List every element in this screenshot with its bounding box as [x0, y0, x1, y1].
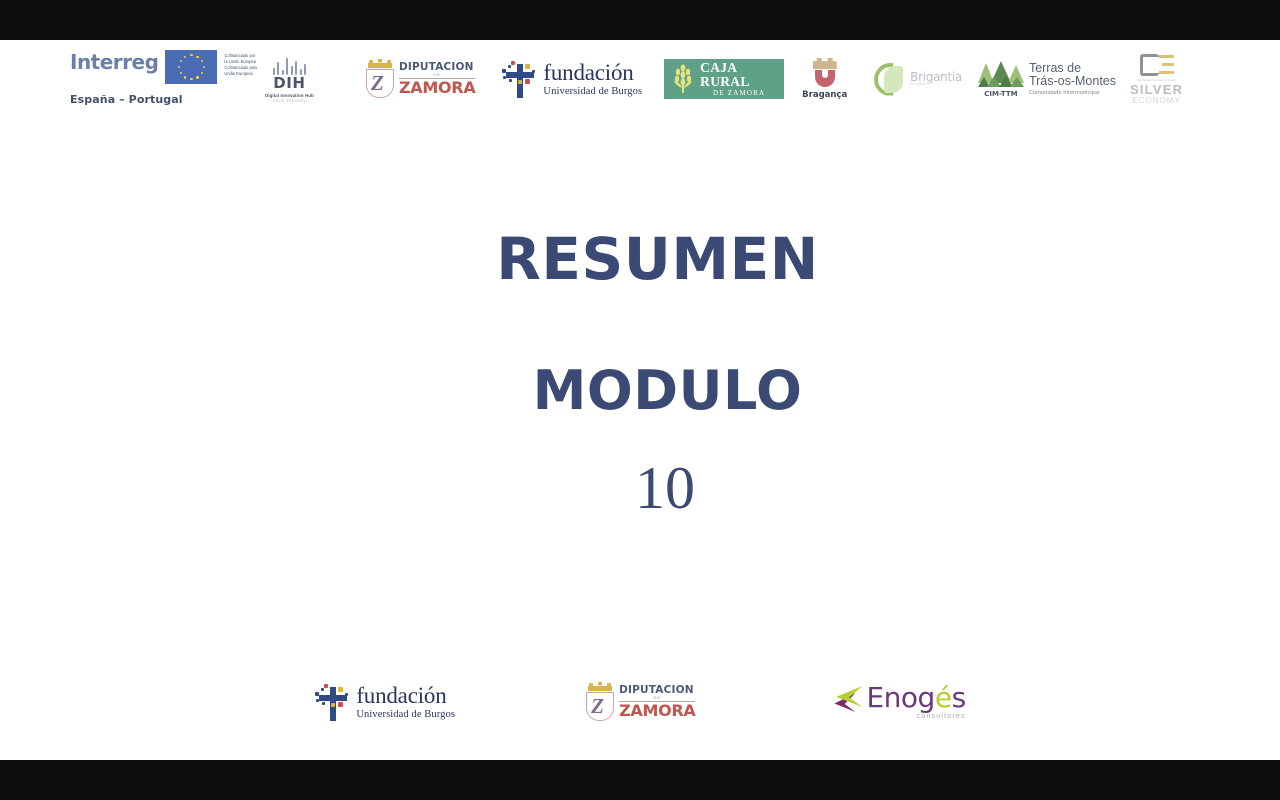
slide-title-block: RESUMEN MODULO 10	[0, 230, 1280, 518]
logo-braganca: Bragança	[802, 58, 864, 100]
caja-rural-line2: DE ZAMORA	[700, 90, 778, 97]
zamora-line2: ZAMORA	[399, 80, 475, 96]
logo-diputacion-zamora-bottom: Z DIPUTACION DE ZAMORA	[585, 682, 695, 722]
logo-enoges: Enogés consultores	[825, 682, 965, 722]
interreg-subtitle: España – Portugal	[70, 93, 286, 106]
ttm-line1: Terras de	[1029, 62, 1116, 76]
dih-subtitle-2: Silver Economy	[265, 98, 314, 103]
dih-bars-icon	[265, 55, 314, 75]
zamora-line1: DIPUTACION	[619, 685, 695, 696]
cim-ttm-acronym: CIM-TTM	[978, 90, 1024, 98]
ubu-cross-icon	[501, 60, 537, 98]
logo-fundacion-ubu-top: fundación Universidad de Burgos	[501, 60, 642, 98]
ttm-line2: Trás-os-Montes	[1029, 75, 1116, 89]
brigantia-sublabel: Ecopark	[910, 83, 962, 87]
zamora-connector: DE	[619, 696, 695, 700]
interreg-wordmark: Interreg	[70, 52, 158, 72]
logo-dih: DIH Digital Innovation Hub Silver Econom…	[265, 55, 347, 102]
ubu-cross-icon	[314, 683, 350, 721]
enoges-text-after: s	[952, 681, 966, 714]
ubu-line1: fundación	[356, 684, 455, 708]
eu-flag-icon	[165, 50, 217, 84]
ubu-line2: Universidad de Burgos	[543, 86, 642, 97]
logo-caja-rural: CAJA RURAL DE ZAMORA	[664, 59, 784, 99]
module-number: 10	[0, 458, 1280, 518]
zamora-crest-icon: Z	[585, 682, 615, 722]
zamora-line2: ZAMORA	[619, 703, 695, 719]
caja-rural-line1: CAJA RURAL	[700, 61, 778, 89]
enoges-swoosh-icon	[825, 682, 865, 722]
silver-economy-line2: ECONOMY	[1130, 96, 1183, 105]
enoges-text-accent: é	[935, 681, 952, 714]
page-title: RESUMEN	[0, 230, 1280, 288]
dih-wordmark: DIH	[265, 75, 314, 92]
subtitle-modulo: MODULO	[0, 364, 1280, 418]
silver-economy-line1: SILVER	[1130, 82, 1183, 97]
dih-subtitle-1: Digital Innovation Hub	[265, 93, 314, 98]
mountains-icon	[978, 61, 1024, 89]
wheat-icon	[670, 64, 696, 94]
zamora-connector: DE	[399, 73, 475, 77]
presentation-slide: Interreg Cof	[0, 40, 1280, 760]
enoges-text-before: Enog	[866, 681, 934, 714]
letterbox-top	[0, 0, 1280, 40]
logo-diputacion-zamora-top: Z DIPUTACION DE ZAMORA	[365, 59, 475, 99]
silver-economy-monogram-icon	[1140, 53, 1174, 78]
ttm-sublabel: Comunidade Intermunicipal	[1029, 90, 1116, 96]
logo-cim-ttm: CIM-TTM Terras de Trás-os-Montes Comunid…	[978, 61, 1116, 98]
logo-fundacion-ubu-bottom: fundación Universidad de Burgos	[314, 683, 455, 721]
zamora-crest-icon: Z	[365, 59, 395, 99]
zamora-line1: DIPUTACION	[399, 62, 475, 73]
logo-brigantia: Brigantia Ecopark	[874, 63, 962, 96]
logo-interreg: Interreg Cof	[70, 52, 265, 106]
ubu-line1: fundación	[543, 61, 642, 85]
partner-logo-strip-bottom: fundación Universidad de Burgos Z DIPUTA…	[0, 682, 1280, 722]
ubu-line2: Universidad de Burgos	[356, 709, 455, 720]
braganca-shield-icon	[810, 58, 840, 88]
partner-logo-strip-top: Interreg Cof	[70, 48, 1210, 110]
braganca-label: Bragança	[802, 90, 847, 100]
brigantia-leaf-icon	[874, 63, 907, 96]
enoges-sublabel: consultores	[866, 713, 965, 720]
logo-silver-economy: Sociedad Territorio Silver SILVER ECONOM…	[1130, 53, 1190, 105]
letterbox-bottom	[0, 760, 1280, 800]
